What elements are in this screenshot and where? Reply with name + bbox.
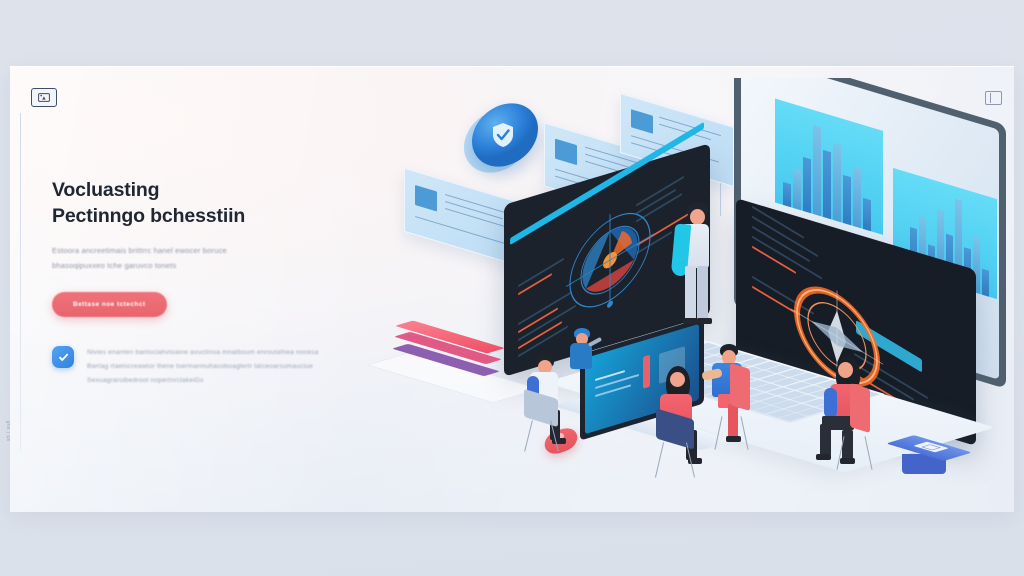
person-seated-e [820, 356, 882, 476]
radar-target-graphic [562, 179, 658, 341]
isometric-workspace-illustration [368, 78, 1024, 512]
person-seated-c [656, 366, 714, 482]
left-vertical-rule [20, 113, 21, 451]
subtitle-line-1: Estoora ancreetimais brittrrc hanel ewoc… [52, 246, 227, 255]
vertical-note: sh / vu8 [6, 351, 12, 441]
subtitle-line-2: bhasoqipuxxeo tche garuvco tonets [52, 261, 176, 270]
feature-text: Nivies enanten banlociahvtoaine avuctino… [87, 346, 319, 388]
brand-badge[interactable] [31, 88, 57, 107]
feature-line-3: Sexuagraroibedroot nopertnrclakeiGs [87, 377, 204, 384]
person-standing [673, 202, 721, 334]
image-placeholder-icon [38, 93, 50, 102]
blue-device[interactable] [900, 434, 962, 482]
shield-check-icon [464, 104, 538, 172]
heading-line-2: Pectinngo bchesstiin [52, 205, 245, 227]
feature-row: Nivies enanten banlociahvtoaine avuctino… [52, 346, 342, 388]
hero-copy: Vocluasting Pectinngo bchesstiin Estoora… [52, 178, 352, 317]
book-stack [398, 310, 508, 388]
page-title: Vocluasting Pectinngo bchesstiin [52, 178, 352, 229]
feature-line-1: Nivies enanten banlociahvtoaine avuctino… [87, 349, 319, 356]
verified-check-icon [52, 346, 74, 368]
screenshot-root: sh / vu8 Vocluasting Pectinngo bchesstii… [0, 0, 1024, 576]
feature-line-2: Bwrlag rtaelocreawtor lhene tserinarmuha… [87, 363, 313, 370]
hero-subtitle: Estoora ancreetimais brittrrc hanel ewoc… [52, 244, 267, 274]
cta-button[interactable]: Bettase noe tctechct [52, 292, 167, 317]
person-seated-d [708, 344, 764, 456]
heading-line-1: Vocluasting [52, 179, 159, 201]
person-seated-b [566, 328, 606, 384]
shield-glyph [488, 120, 518, 150]
